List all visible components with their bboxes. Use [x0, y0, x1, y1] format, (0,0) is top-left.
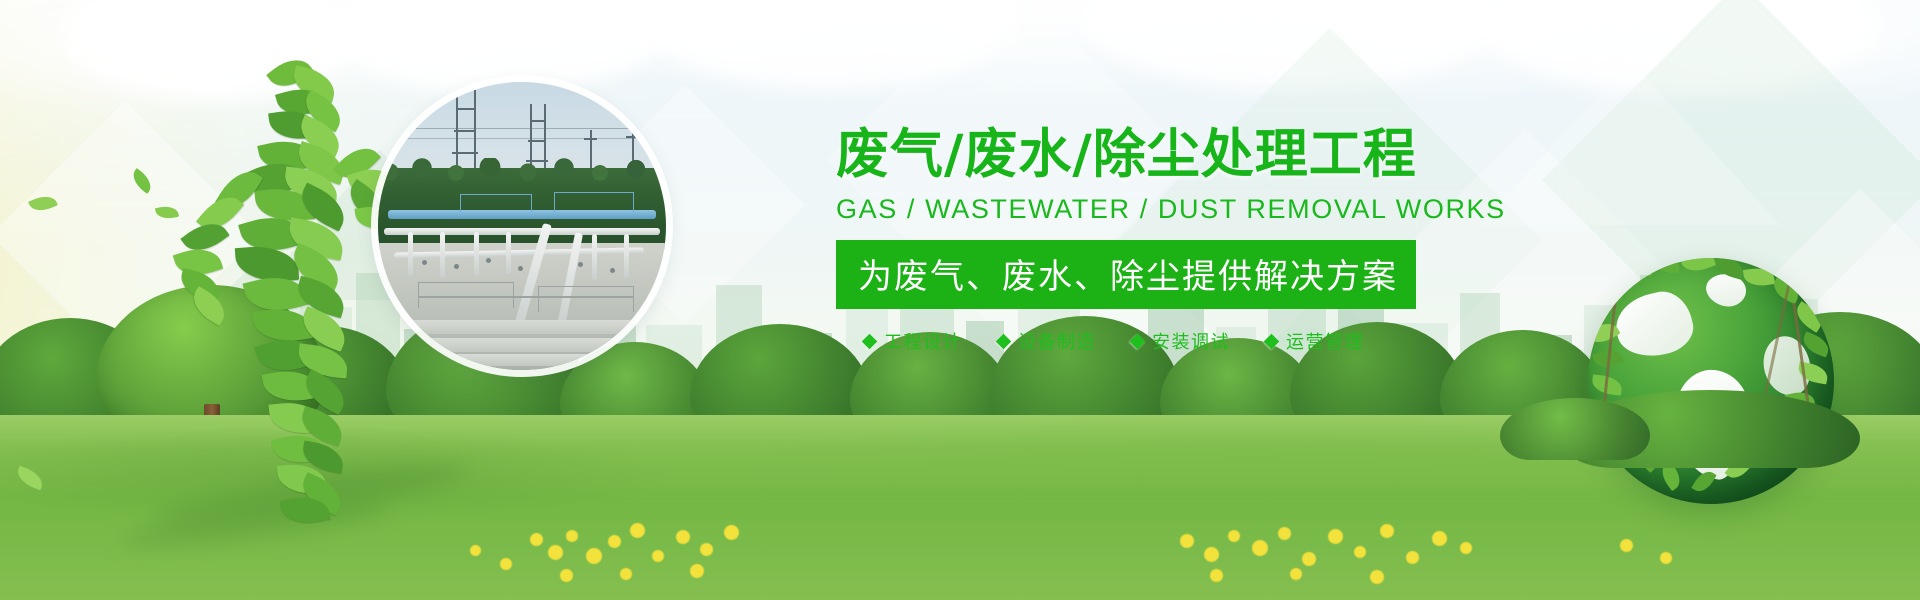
bullet-label: 安装调试 — [1152, 328, 1230, 354]
diamond-bullet-icon — [1264, 333, 1280, 349]
diamond-bullet-icon — [996, 333, 1012, 349]
bullet-label: 工程设计 — [884, 328, 962, 354]
list-item[interactable]: 运营管理 — [1266, 328, 1364, 354]
list-item[interactable]: 设备制造 — [998, 328, 1096, 354]
diamond-bullet-icon — [862, 333, 878, 349]
bullet-label: 设备制造 — [1018, 328, 1096, 354]
list-item[interactable]: 安装调试 — [1132, 328, 1230, 354]
headline-text-block: 废气/废水/除尘处理工程 GAS / WASTEWATER / DUST REM… — [836, 128, 1456, 354]
slogan-bar: 为废气、废水、除尘提供解决方案 — [836, 240, 1416, 309]
wastewater-treatment-plant-photo — [378, 82, 666, 370]
subtitle-english: GAS / WASTEWATER / DUST REMOVAL WORKS — [836, 194, 1456, 225]
list-item[interactable]: 工程设计 — [864, 328, 962, 354]
running-leaf-man-figure — [150, 52, 400, 532]
slogan-text: 为废气、废水、除尘提供解决方案 — [858, 257, 1398, 297]
bullet-label: 运营管理 — [1286, 328, 1364, 354]
page-title: 废气/废水/除尘处理工程 — [836, 128, 1456, 181]
continent-north-america — [1610, 286, 1699, 365]
eco-engineering-banner: 废气/废水/除尘处理工程 GAS / WASTEWATER / DUST REM… — [0, 0, 1920, 600]
service-bullet-list: 工程设计 设备制造 安装调试 运营管理 — [836, 328, 1456, 354]
diamond-bullet-icon — [1130, 333, 1146, 349]
